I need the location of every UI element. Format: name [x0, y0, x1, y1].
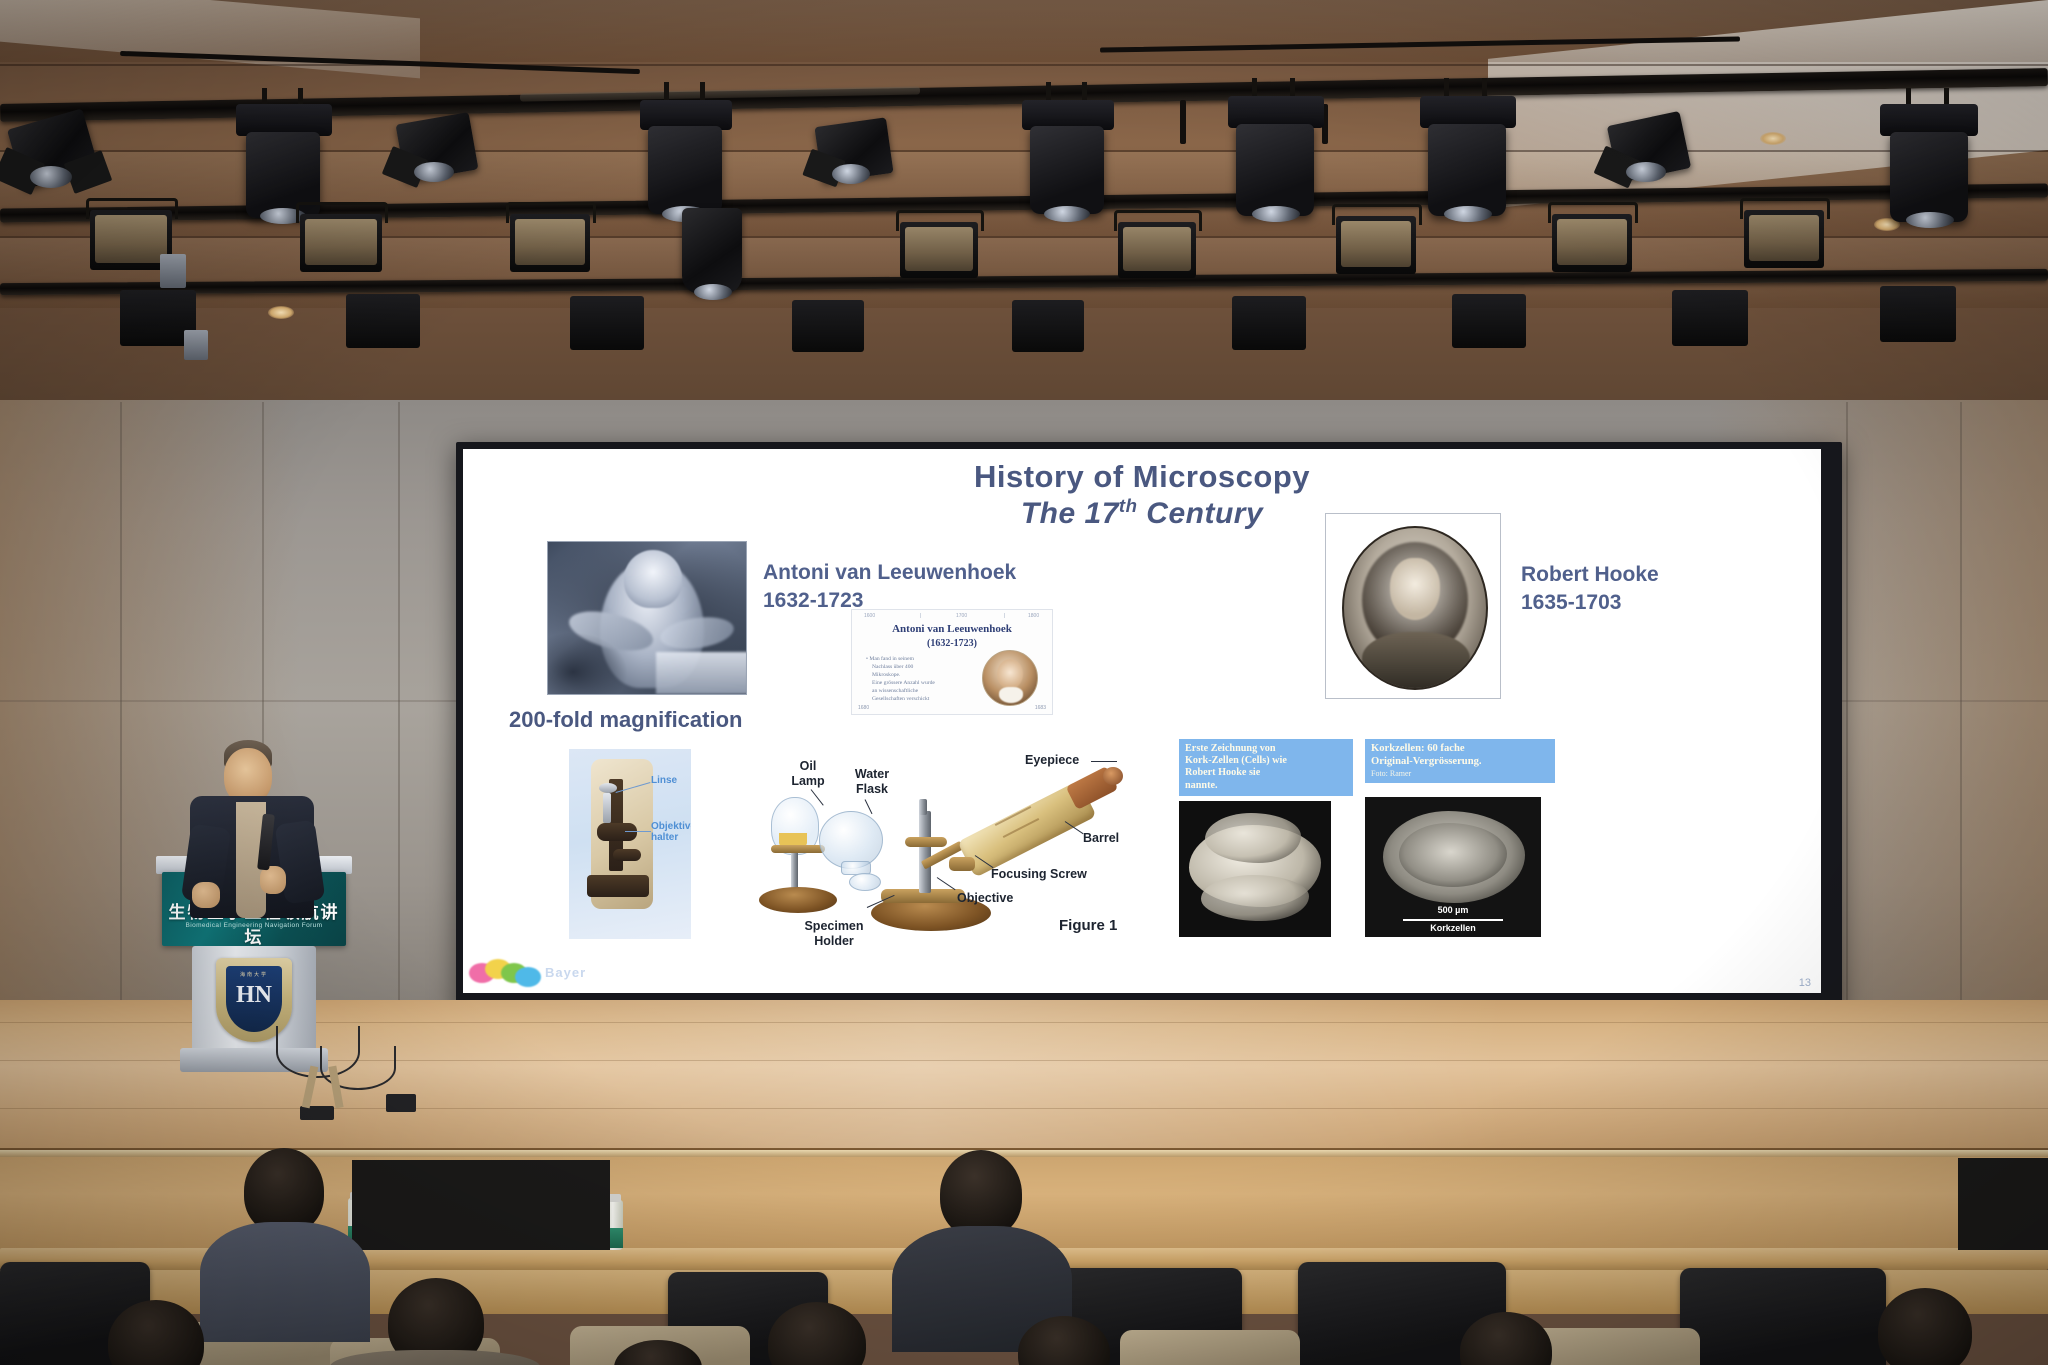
mini-bullet-6: Gesellschaften verschickt [866, 696, 980, 704]
specimen-label-l2: Holder [797, 934, 871, 949]
hooke-portrait [1325, 513, 1501, 699]
inset-mini-slide: 1600 | 1700 | 1800 Antoni van Leeuwenhoe… [851, 609, 1053, 715]
hooke-years: 1635-1703 [1521, 589, 1659, 617]
eyepiece-label: Eyepiece [1025, 753, 1079, 768]
mini-leeuwenhoek-portrait [982, 650, 1038, 706]
specimen-label-l1: Specimen [797, 919, 871, 934]
slide-title-line1: History of Microscopy [463, 459, 1821, 495]
slide-title-century-sup: th [1119, 495, 1138, 516]
mini-slide-title: Antoni van Leeuwenhoek [852, 623, 1052, 635]
mini-foot-left: 1680 [858, 705, 869, 711]
footer-logo-word: Bayer [545, 965, 586, 980]
scalebar-label: 500 µm [1365, 905, 1541, 915]
water-label-l2: Flask [845, 782, 899, 797]
oil-label-l2: Lamp [781, 774, 835, 789]
leeuwenhoek-name-block: Antoni van Leeuwenhoek 1632-1723 [763, 559, 1016, 614]
mini-bullet-5: an wissenschaftliche [866, 688, 980, 696]
slide-title-line2: The 17th Century [463, 495, 1821, 531]
floor-connector-box [386, 1094, 416, 1112]
replica-holder-label: Objektiv- halter [651, 821, 691, 843]
hooke-name-block: Robert Hooke 1635-1703 [1521, 561, 1659, 616]
korkzellen-caption: Korkzellen: 60 fache Original-Vergrösser… [1365, 739, 1555, 783]
replica-holder-line1: Objektiv- [651, 821, 691, 832]
presentation-slide[interactable]: History of Microscopy The 17th Century A… [463, 449, 1821, 993]
caption-left-l2: Kork-Zellen (Cells) wie [1185, 755, 1347, 767]
oil-lamp-label: Oil Lamp [781, 759, 835, 789]
crest-hn-text: HN [226, 982, 282, 1009]
projection-screen-frame: History of Microscopy The 17th Century A… [456, 442, 1842, 1014]
slide-title-century-post: Century [1137, 497, 1263, 530]
hooke-name: Robert Hooke [1521, 561, 1659, 589]
footer-logo: Bayer [469, 957, 639, 989]
mini-bullet-2: Nachlass über 400 [866, 664, 980, 672]
scalebar [1403, 919, 1503, 921]
micrograph-caption: Korkzellen [1365, 923, 1541, 933]
caption-right-credit: Foto: Ramer [1371, 769, 1549, 779]
focusing-screw [949, 857, 975, 871]
caption-left-l1: Erste Zeichnung von [1185, 743, 1347, 755]
leeuwenhoek-name: Antoni van Leeuwenhoek [763, 559, 1016, 587]
focusing-screw-label: Focusing Screw [991, 867, 1087, 882]
slide-number: 13 [1799, 977, 1811, 989]
mini-bullet-1: Man fand in seinem [869, 656, 914, 662]
mini-bullet-3: Mikroskope. [866, 672, 980, 680]
mini-slide-subtitle: (1632-1723) [852, 638, 1052, 649]
magnification-label: 200-fold magnification [509, 707, 742, 733]
speaker-hand-left [192, 882, 220, 908]
wall-dark-panel [1958, 1158, 2048, 1250]
wall-dark-panel [352, 1160, 610, 1250]
auditorium-scene: History of Microscopy The 17th Century A… [0, 0, 2048, 1365]
leeuwenhoek-replica-image: Linse Objektiv- halter [569, 749, 691, 939]
microscope-pillar [919, 811, 931, 893]
speaker-hand-right [260, 866, 286, 894]
audience-person-head [940, 1150, 1022, 1238]
podium-banner-en: Biomedical Engineering Navigation Forum [162, 922, 346, 929]
mini-foot-right: 1683 [1035, 705, 1046, 711]
cork-cells-photomicrograph: 500 µm Korkzellen [1365, 797, 1541, 937]
figure1-microscope-diagram: Oil Lamp Water Flask [753, 749, 1163, 949]
mini-bullet-4: Eine grössere Anzahl wurde [866, 680, 980, 688]
barrel-label: Barrel [1083, 831, 1119, 846]
figure-caption: Figure 1 [1059, 917, 1117, 935]
audience-seat [1680, 1268, 1886, 1365]
replica-holder-line2: halter [651, 832, 691, 843]
caption-left-l4: nannte. [1185, 780, 1347, 792]
water-label-l1: Water [845, 767, 899, 782]
specimen-holder-label: Specimen Holder [797, 919, 871, 949]
lamp-base [759, 887, 837, 913]
hooke-drawing-caption: Erste Zeichnung von Kork-Zellen (Cells) … [1179, 739, 1353, 796]
objective-label: Objective [957, 891, 1013, 906]
replica-lens-label: Linse [651, 775, 677, 786]
caption-left-l3: Robert Hooke sie [1185, 767, 1347, 779]
oil-label-l1: Oil [781, 759, 835, 774]
floor-connector-box [300, 1106, 334, 1120]
caption-right-l1: Korkzellen: 60 fache [1371, 743, 1549, 756]
slide-title-century-pre: The 17 [1021, 497, 1119, 530]
water-flask-label: Water Flask [845, 767, 899, 797]
cork-cells-drawing [1179, 801, 1331, 937]
audience-person-shoulders [200, 1222, 370, 1342]
leeuwenhoek-portrait [547, 541, 747, 695]
caption-right-l2: Original-Vergrösserung. [1371, 756, 1549, 769]
crest-cn-text: 海南大学 [226, 971, 282, 978]
audience-seat [1120, 1330, 1300, 1365]
